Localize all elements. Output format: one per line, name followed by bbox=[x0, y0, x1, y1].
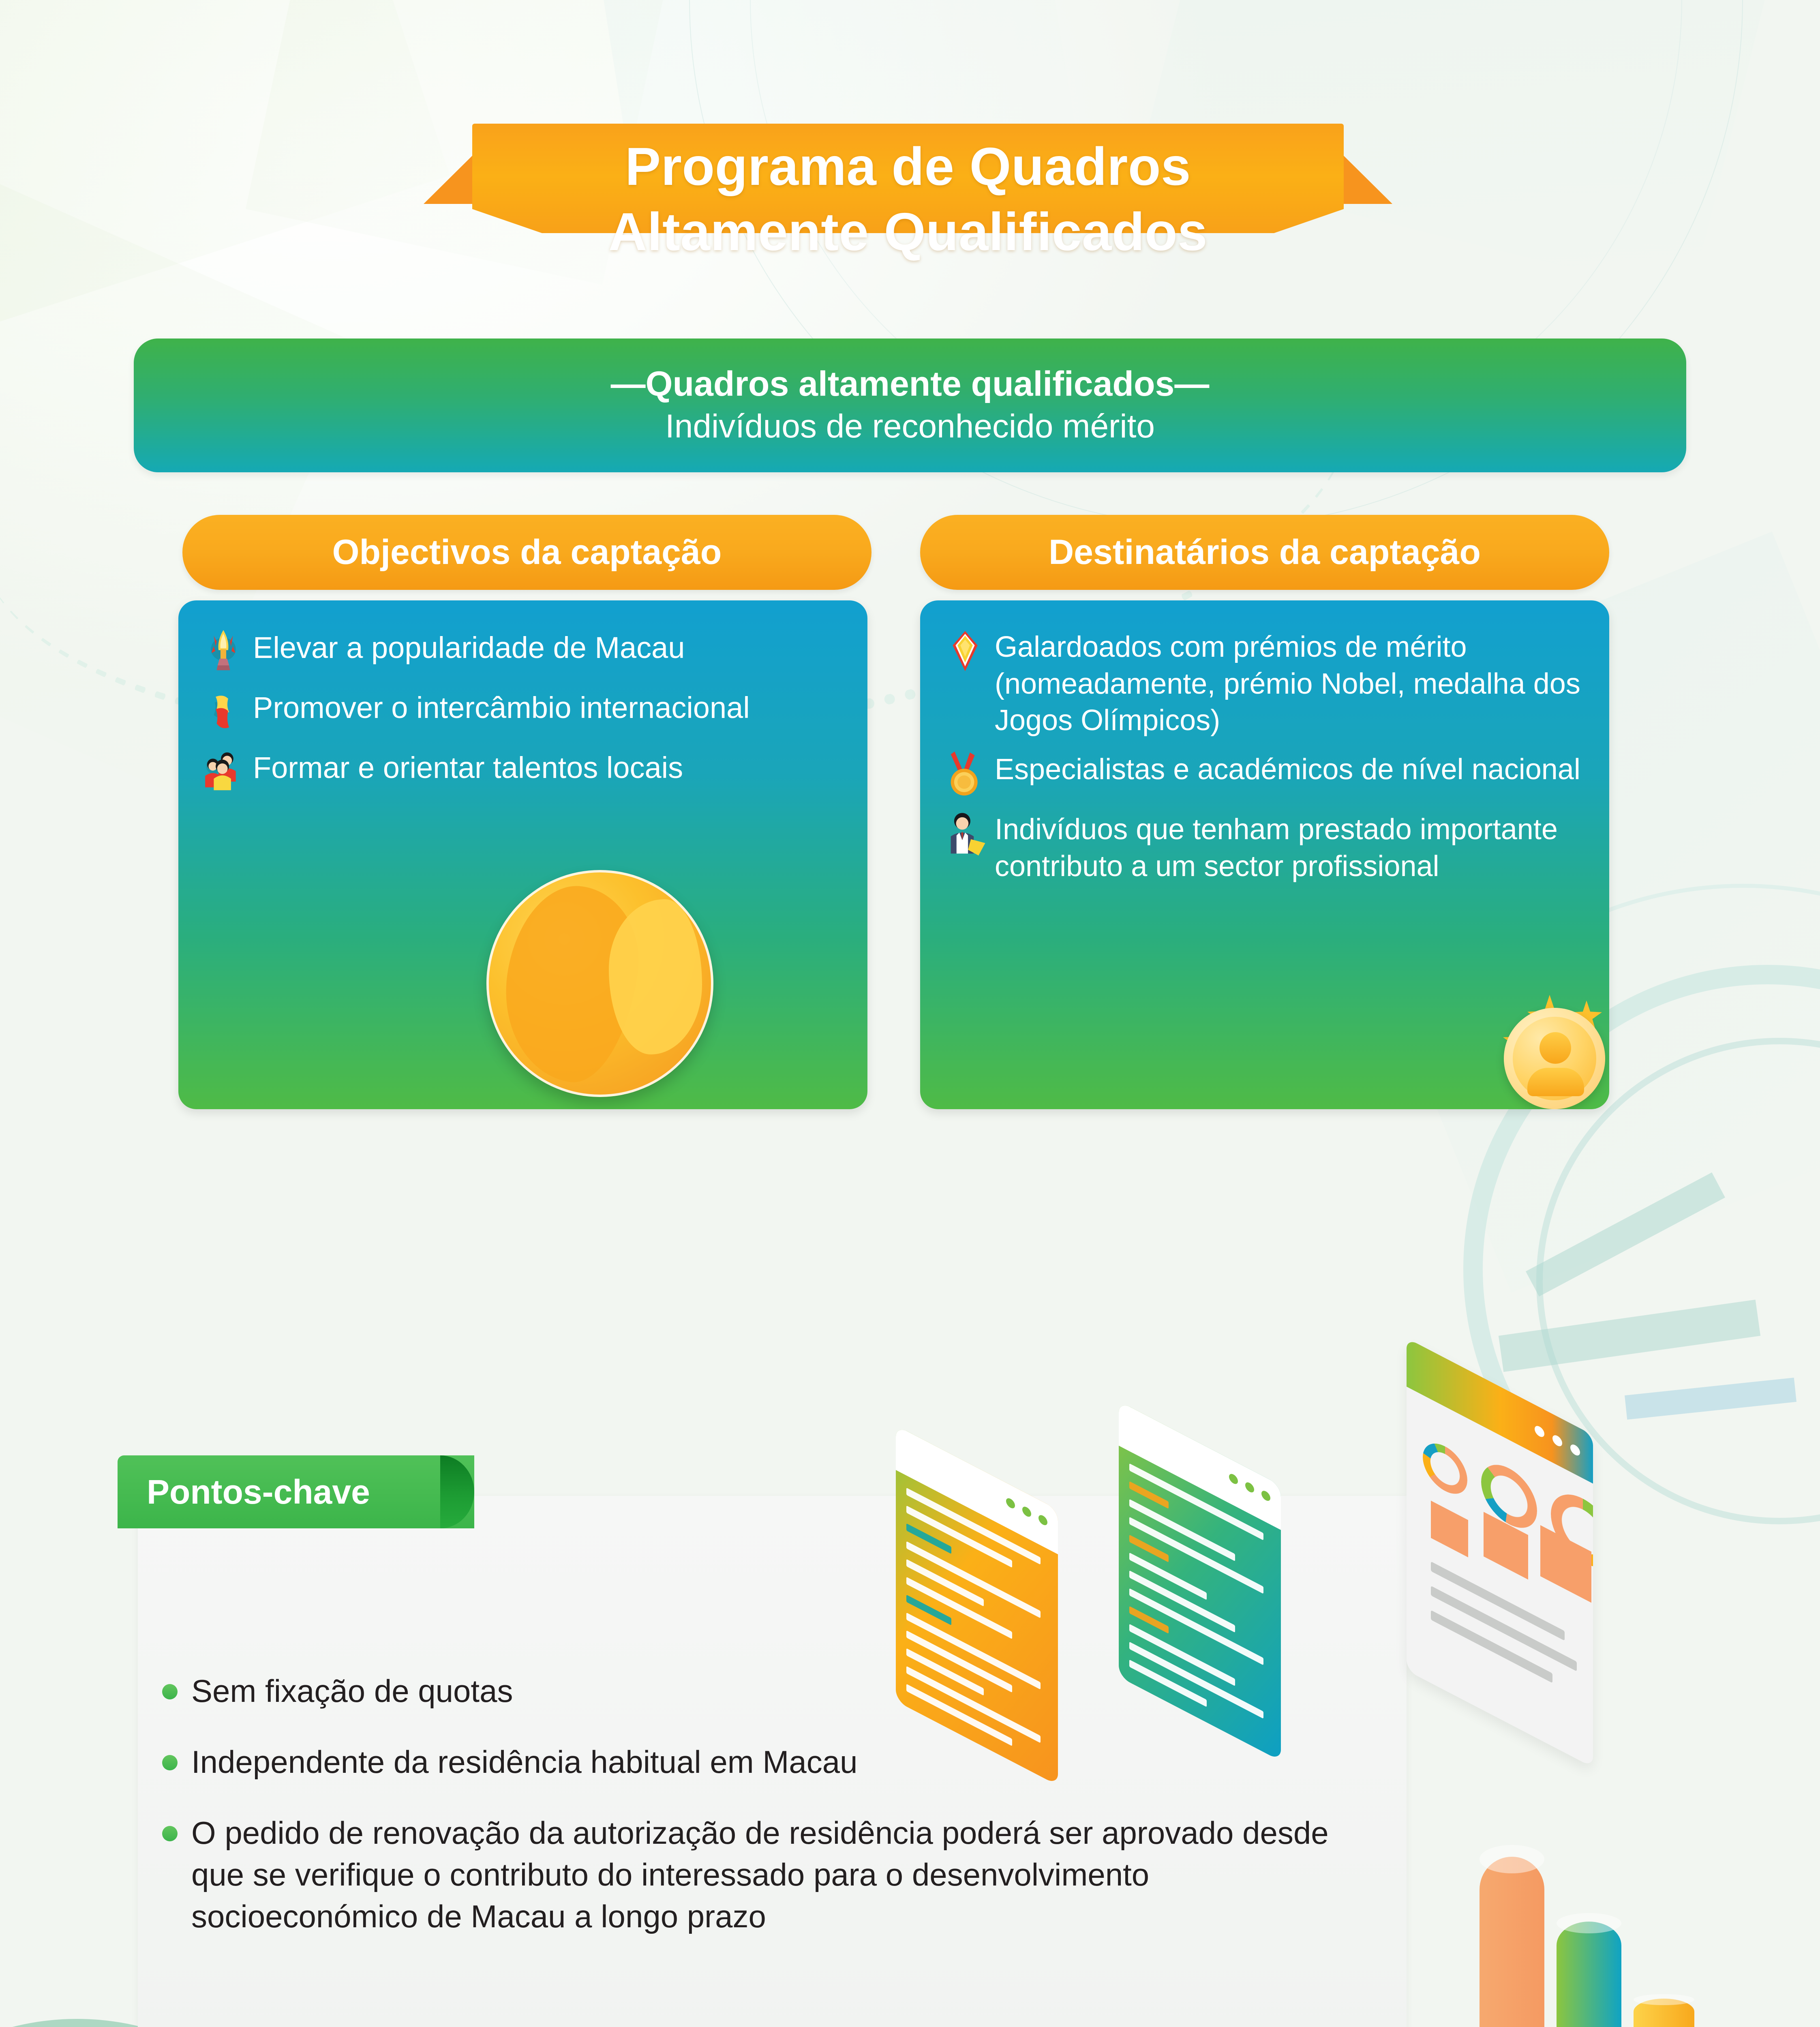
section-heading-recipients: Destinatários da captação bbox=[920, 515, 1609, 590]
list-item-text: Independente da residência habitual em M… bbox=[191, 1741, 857, 1783]
tab-curl-corner bbox=[440, 1455, 474, 1528]
list-item: Formar e orientar talentos locais bbox=[199, 749, 841, 797]
list-item: Independente da residência habitual em M… bbox=[162, 1741, 1378, 1783]
section-heading-objectives: Objectivos da captação bbox=[182, 515, 871, 590]
infographic-root: Programa de Quadros Altamente Qualificad… bbox=[0, 0, 1820, 2027]
badge-person-head bbox=[1540, 1032, 1571, 1064]
list-item-text: O pedido de renovação da autorização de … bbox=[191, 1812, 1338, 1937]
list-item-text: Especialistas e académicos de nível naci… bbox=[995, 751, 1580, 788]
chart-cylinder bbox=[1480, 1857, 1544, 2027]
bullet-dot-icon bbox=[162, 1755, 178, 1770]
chart-cylinder bbox=[1634, 1999, 1694, 2027]
list-item: Elevar a popularidade de Macau bbox=[199, 629, 841, 677]
list-item: Especialistas e académicos de nível naci… bbox=[941, 751, 1582, 799]
rocket-launch-icon bbox=[199, 627, 247, 675]
column-recipients: Destinatários da captação Galardoados co… bbox=[920, 515, 1625, 1109]
card-recipients: Galardoados com prémios de mérito (nomea… bbox=[920, 600, 1609, 1109]
medal-icon bbox=[941, 750, 989, 797]
list-item-text: Galardoados com prémios de mérito (nomea… bbox=[995, 629, 1582, 739]
list-item: Galardoados com prémios de mérito (nomea… bbox=[941, 629, 1582, 739]
key-points-list: Sem fixação de quotas Independente da re… bbox=[162, 1670, 1378, 1967]
subtitle-bar: —Quadros altamente qualificados— Indivíd… bbox=[134, 339, 1686, 472]
page-title: Programa de Quadros Altamente Qualificad… bbox=[424, 134, 1392, 264]
column-objectives: Objectivos da captação bbox=[178, 515, 884, 1109]
list-item: Sem fixação de quotas bbox=[162, 1670, 1378, 1712]
badge-person-body bbox=[1527, 1068, 1584, 1096]
bullet-dot-icon bbox=[162, 1684, 178, 1699]
cylinder-bar-chart bbox=[1475, 1841, 1702, 2027]
chart-cylinder bbox=[1557, 1922, 1621, 2027]
page-title-line1: Programa de Quadros bbox=[424, 134, 1392, 199]
list-item: Promover o intercâmbio internacional bbox=[199, 689, 841, 737]
award-ribbon-icon bbox=[941, 627, 989, 675]
donut-chart bbox=[1423, 1435, 1467, 1502]
window-dots bbox=[1229, 1472, 1270, 1502]
businessman-icon bbox=[941, 810, 989, 857]
list-item-text: Formar e orientar talentos locais bbox=[253, 749, 683, 786]
key-points-tab: Pontos-chave bbox=[118, 1455, 474, 1528]
people-group-icon bbox=[199, 747, 247, 795]
page-title-line2: Altamente Qualificados bbox=[424, 199, 1392, 264]
subtitle-line2: Indivíduos de reconhecido mérito bbox=[665, 407, 1155, 446]
subtitle-line1: —Quadros altamente qualificados— bbox=[611, 364, 1210, 404]
list-item-text: Promover o intercâmbio internacional bbox=[253, 689, 750, 726]
isometric-dashboard bbox=[1407, 1386, 1593, 1719]
list-item-text: Elevar a popularidade de Macau bbox=[253, 629, 685, 666]
card-objectives: Elevar a popularidade de Macau Promover … bbox=[178, 600, 867, 1109]
globe-illustration bbox=[486, 870, 713, 1097]
key-points-tab-label: Pontos-chave bbox=[147, 1472, 370, 1512]
flag-exchange-icon bbox=[199, 687, 247, 735]
dashboard-tile bbox=[1431, 1501, 1468, 1558]
window-dots bbox=[1006, 1496, 1047, 1527]
list-item-text: Indivíduos que tenham prestado important… bbox=[995, 811, 1582, 885]
bullet-dot-icon bbox=[162, 1826, 178, 1841]
list-item: Indivíduos que tenham prestado important… bbox=[941, 811, 1582, 885]
list-item-text: Sem fixação de quotas bbox=[191, 1670, 513, 1712]
list-item: O pedido de renovação da autorização de … bbox=[162, 1812, 1378, 1937]
star-person-badge bbox=[1492, 984, 1609, 1105]
